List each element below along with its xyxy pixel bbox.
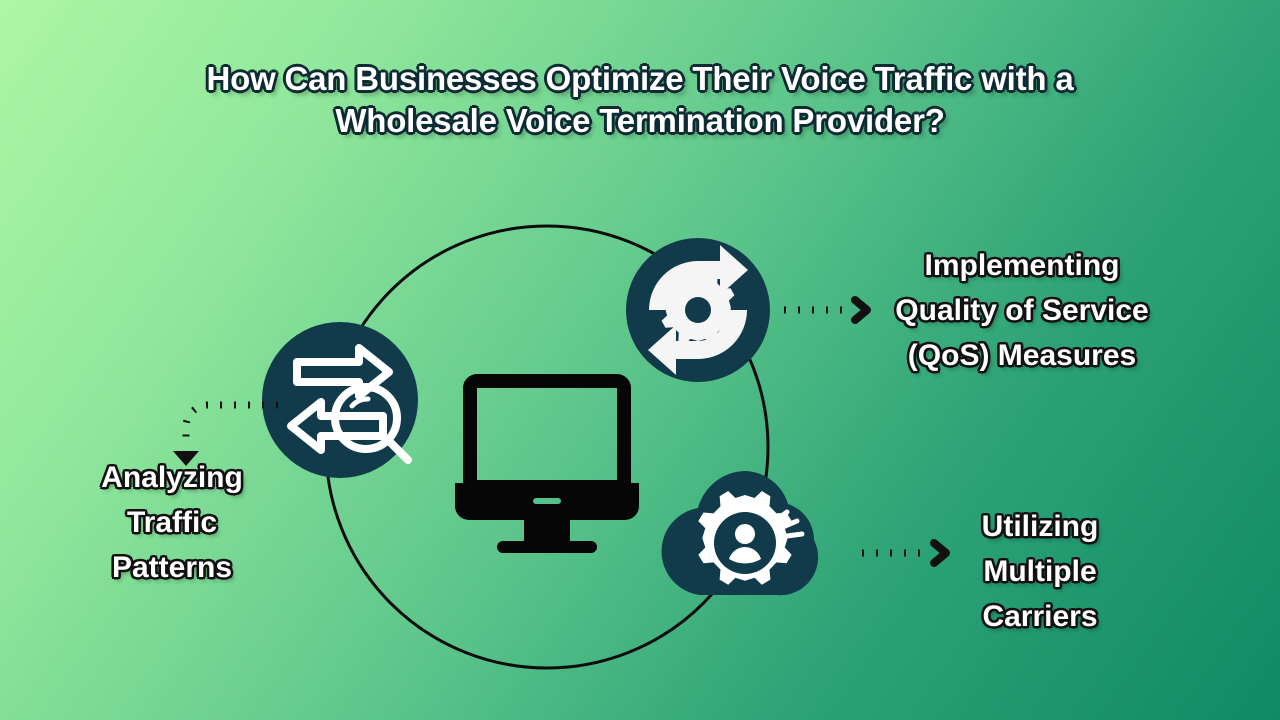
node-implementing-qos[interactable] <box>626 238 770 382</box>
desktop-monitor-icon <box>455 374 639 553</box>
node-utilizing-multiple-carriers[interactable] <box>662 471 819 595</box>
label-analyzing-line-2: Traffic <box>72 500 272 545</box>
label-qos-line-2: Quality of Service <box>864 288 1180 333</box>
label-utilizing-multiple-carriers: Utilizing Multiple Carriers <box>948 504 1132 639</box>
label-analyzing-traffic-patterns: Analyzing Traffic Patterns <box>72 455 272 590</box>
label-qos-line-3: (QoS) Measures <box>864 333 1180 378</box>
label-analyzing-line-3: Patterns <box>72 545 272 590</box>
label-carriers-line-1: Utilizing <box>948 504 1132 549</box>
label-qos-line-1: Implementing <box>864 243 1180 288</box>
infographic-canvas: How Can Businesses Optimize Their Voice … <box>0 0 1280 720</box>
label-analyzing-line-1: Analyzing <box>72 455 272 500</box>
label-carriers-line-3: Carriers <box>948 594 1132 639</box>
node-analyzing-traffic-patterns[interactable] <box>262 322 418 478</box>
arrowhead-carriers <box>934 543 946 563</box>
label-implementing-qos: Implementing Quality of Service (QoS) Me… <box>864 243 1180 378</box>
label-carriers-line-2: Multiple <box>948 549 1132 594</box>
